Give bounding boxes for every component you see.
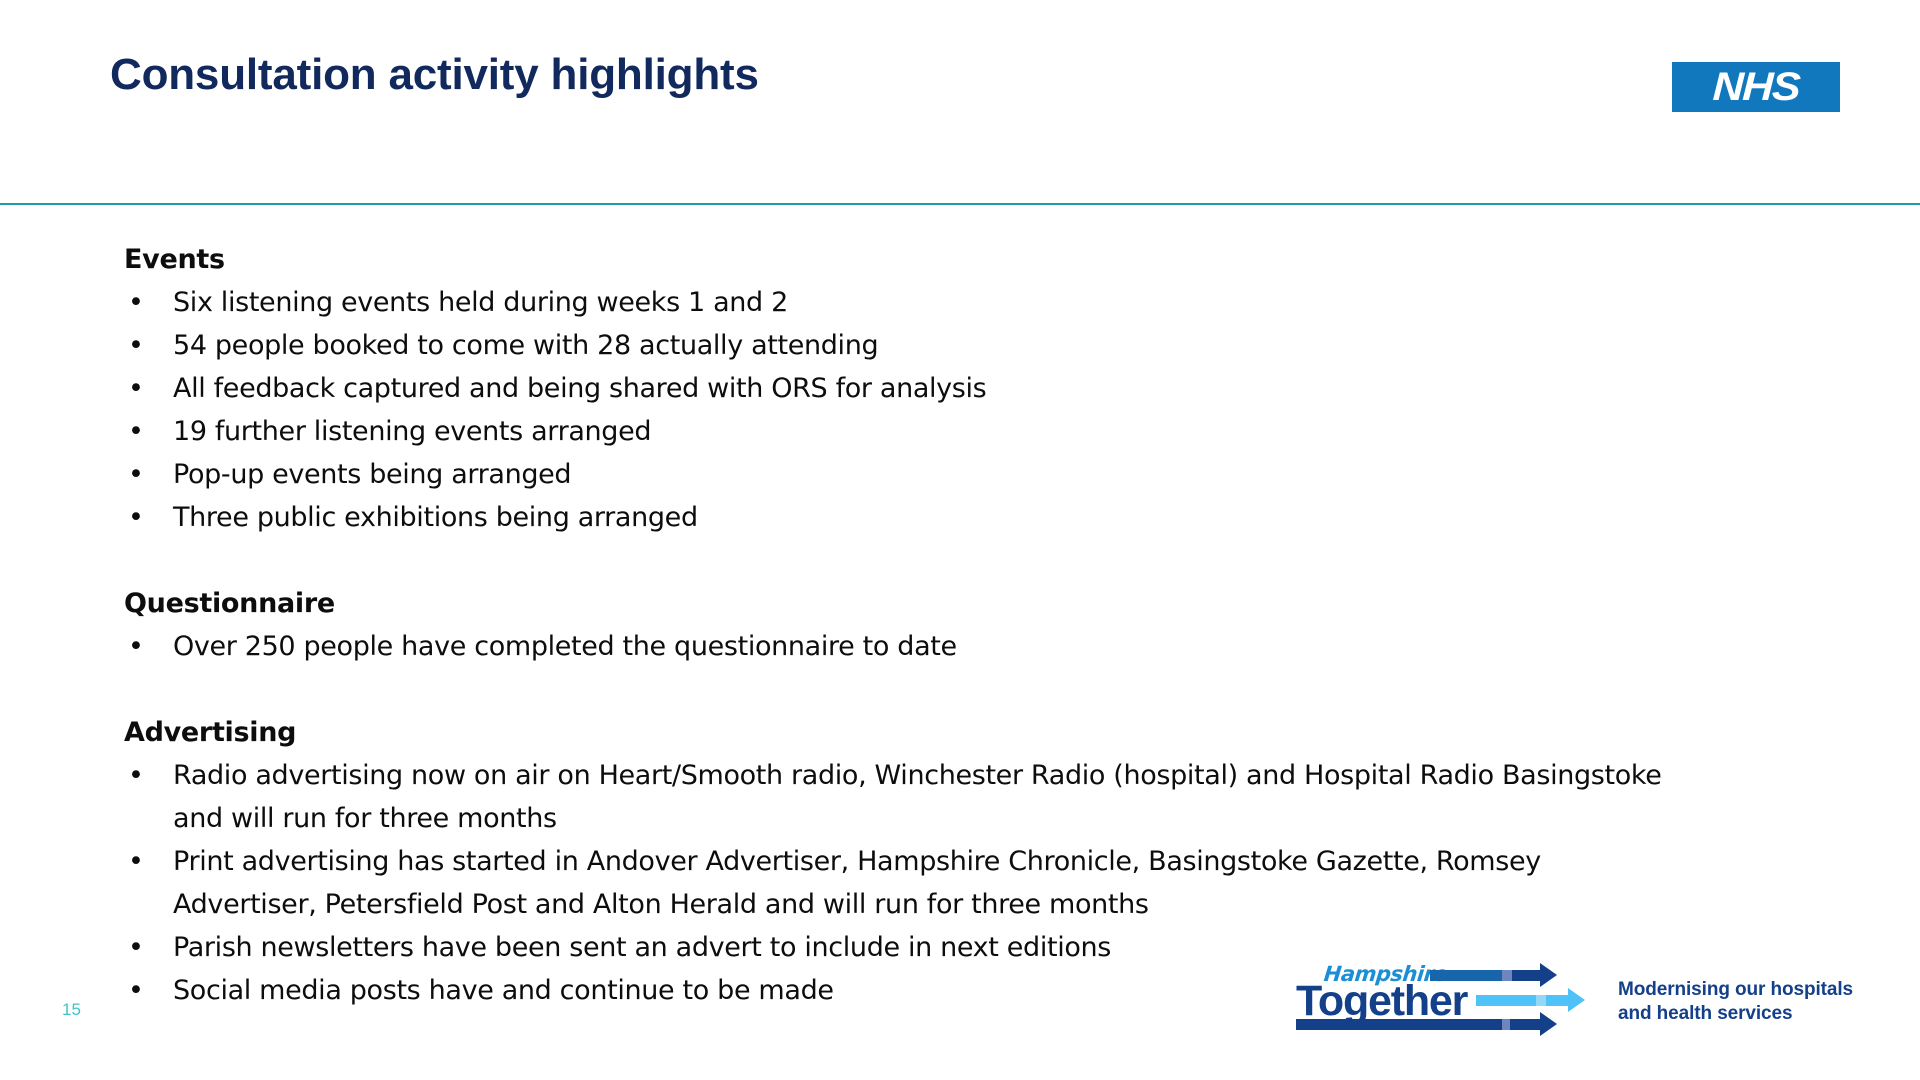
arrow-shaft-middle bbox=[1546, 995, 1568, 1006]
list-item: • Print advertising has started in Andov… bbox=[124, 840, 1684, 926]
list-item: • Three public exhibitions being arrange… bbox=[124, 496, 1684, 539]
section-questionnaire: Questionnaire • Over 250 people have com… bbox=[124, 582, 1684, 668]
slide-content: Events • Six listening events held durin… bbox=[124, 238, 1684, 1012]
header-divider bbox=[0, 203, 1920, 205]
list-item-text: 19 further listening events arranged bbox=[173, 416, 651, 447]
list-item-text: Over 250 people have completed the quest… bbox=[173, 631, 957, 662]
logo-tagline: Modernising our hospitals and health ser… bbox=[1618, 978, 1853, 1026]
list-item-text: Six listening events held during weeks 1… bbox=[173, 287, 788, 318]
list-item: • Six listening events held during weeks… bbox=[124, 281, 1684, 324]
bullet-icon: • bbox=[128, 754, 144, 797]
bullet-icon: • bbox=[128, 410, 144, 453]
section-heading-questionnaire: Questionnaire bbox=[124, 582, 1684, 625]
nhs-logo-text: NHS bbox=[1712, 67, 1800, 107]
slide: Consultation activity highlights NHS Eve… bbox=[0, 0, 1920, 1080]
arrow-head-middle-icon bbox=[1568, 988, 1585, 1012]
arrow-shaft-top bbox=[1512, 970, 1540, 981]
section-heading-advertising: Advertising bbox=[124, 711, 1684, 754]
section-spacer bbox=[124, 539, 1684, 582]
section-events: Events • Six listening events held durin… bbox=[124, 238, 1684, 539]
list-item: • All feedback captured and being shared… bbox=[124, 367, 1684, 410]
list-item: • Over 250 people have completed the que… bbox=[124, 625, 1684, 668]
nhs-logo: NHS bbox=[1672, 62, 1840, 112]
bullet-icon: • bbox=[128, 969, 144, 1012]
logo-tagline-line1: Modernising our hospitals bbox=[1618, 978, 1853, 1002]
bullet-icon: • bbox=[128, 453, 144, 496]
list-item: • 19 further listening events arranged bbox=[124, 410, 1684, 453]
arrow-head-top-icon bbox=[1540, 963, 1557, 987]
bullet-icon: • bbox=[128, 625, 144, 668]
bullet-icon: • bbox=[128, 324, 144, 367]
list-item-text: Social media posts have and continue to … bbox=[173, 975, 834, 1006]
list-item: • Pop-up events being arranged bbox=[124, 453, 1684, 496]
bullet-list-events: • Six listening events held during weeks… bbox=[124, 281, 1684, 539]
section-heading-events: Events bbox=[124, 238, 1684, 281]
list-item-text: Pop-up events being arranged bbox=[173, 459, 571, 490]
list-item-text: Parish newsletters have been sent an adv… bbox=[173, 932, 1111, 963]
arrow-shaft-bottom bbox=[1510, 1019, 1540, 1030]
list-item: • Radio advertising now on air on Heart/… bbox=[124, 754, 1684, 840]
list-item-text: All feedback captured and being shared w… bbox=[173, 373, 986, 404]
bullet-icon: • bbox=[128, 840, 144, 883]
hampshire-together-logo: Hampshire Together bbox=[1296, 962, 1572, 1038]
logo-bar-bottom bbox=[1296, 1019, 1514, 1030]
bullet-icon: • bbox=[128, 367, 144, 410]
page-title: Consultation activity highlights bbox=[110, 50, 759, 100]
list-item: • 54 people booked to come with 28 actua… bbox=[124, 324, 1684, 367]
list-item-text: Print advertising has started in Andover… bbox=[173, 846, 1541, 920]
arrow-head-bottom-icon bbox=[1540, 1012, 1557, 1036]
bullet-icon: • bbox=[128, 496, 144, 539]
logo-tagline-line2: and health services bbox=[1618, 1002, 1853, 1026]
section-spacer bbox=[124, 668, 1684, 711]
list-item-text: 54 people booked to come with 28 actuall… bbox=[173, 330, 878, 361]
bullet-list-questionnaire: • Over 250 people have completed the que… bbox=[124, 625, 1684, 668]
page-number: 15 bbox=[62, 1000, 81, 1020]
bullet-icon: • bbox=[128, 281, 144, 324]
hampshire-together-main-word: Together bbox=[1296, 980, 1467, 1023]
list-item-text: Three public exhibitions being arranged bbox=[173, 502, 698, 533]
list-item-text: Radio advertising now on air on Heart/Sm… bbox=[173, 760, 1661, 834]
bullet-icon: • bbox=[128, 926, 144, 969]
